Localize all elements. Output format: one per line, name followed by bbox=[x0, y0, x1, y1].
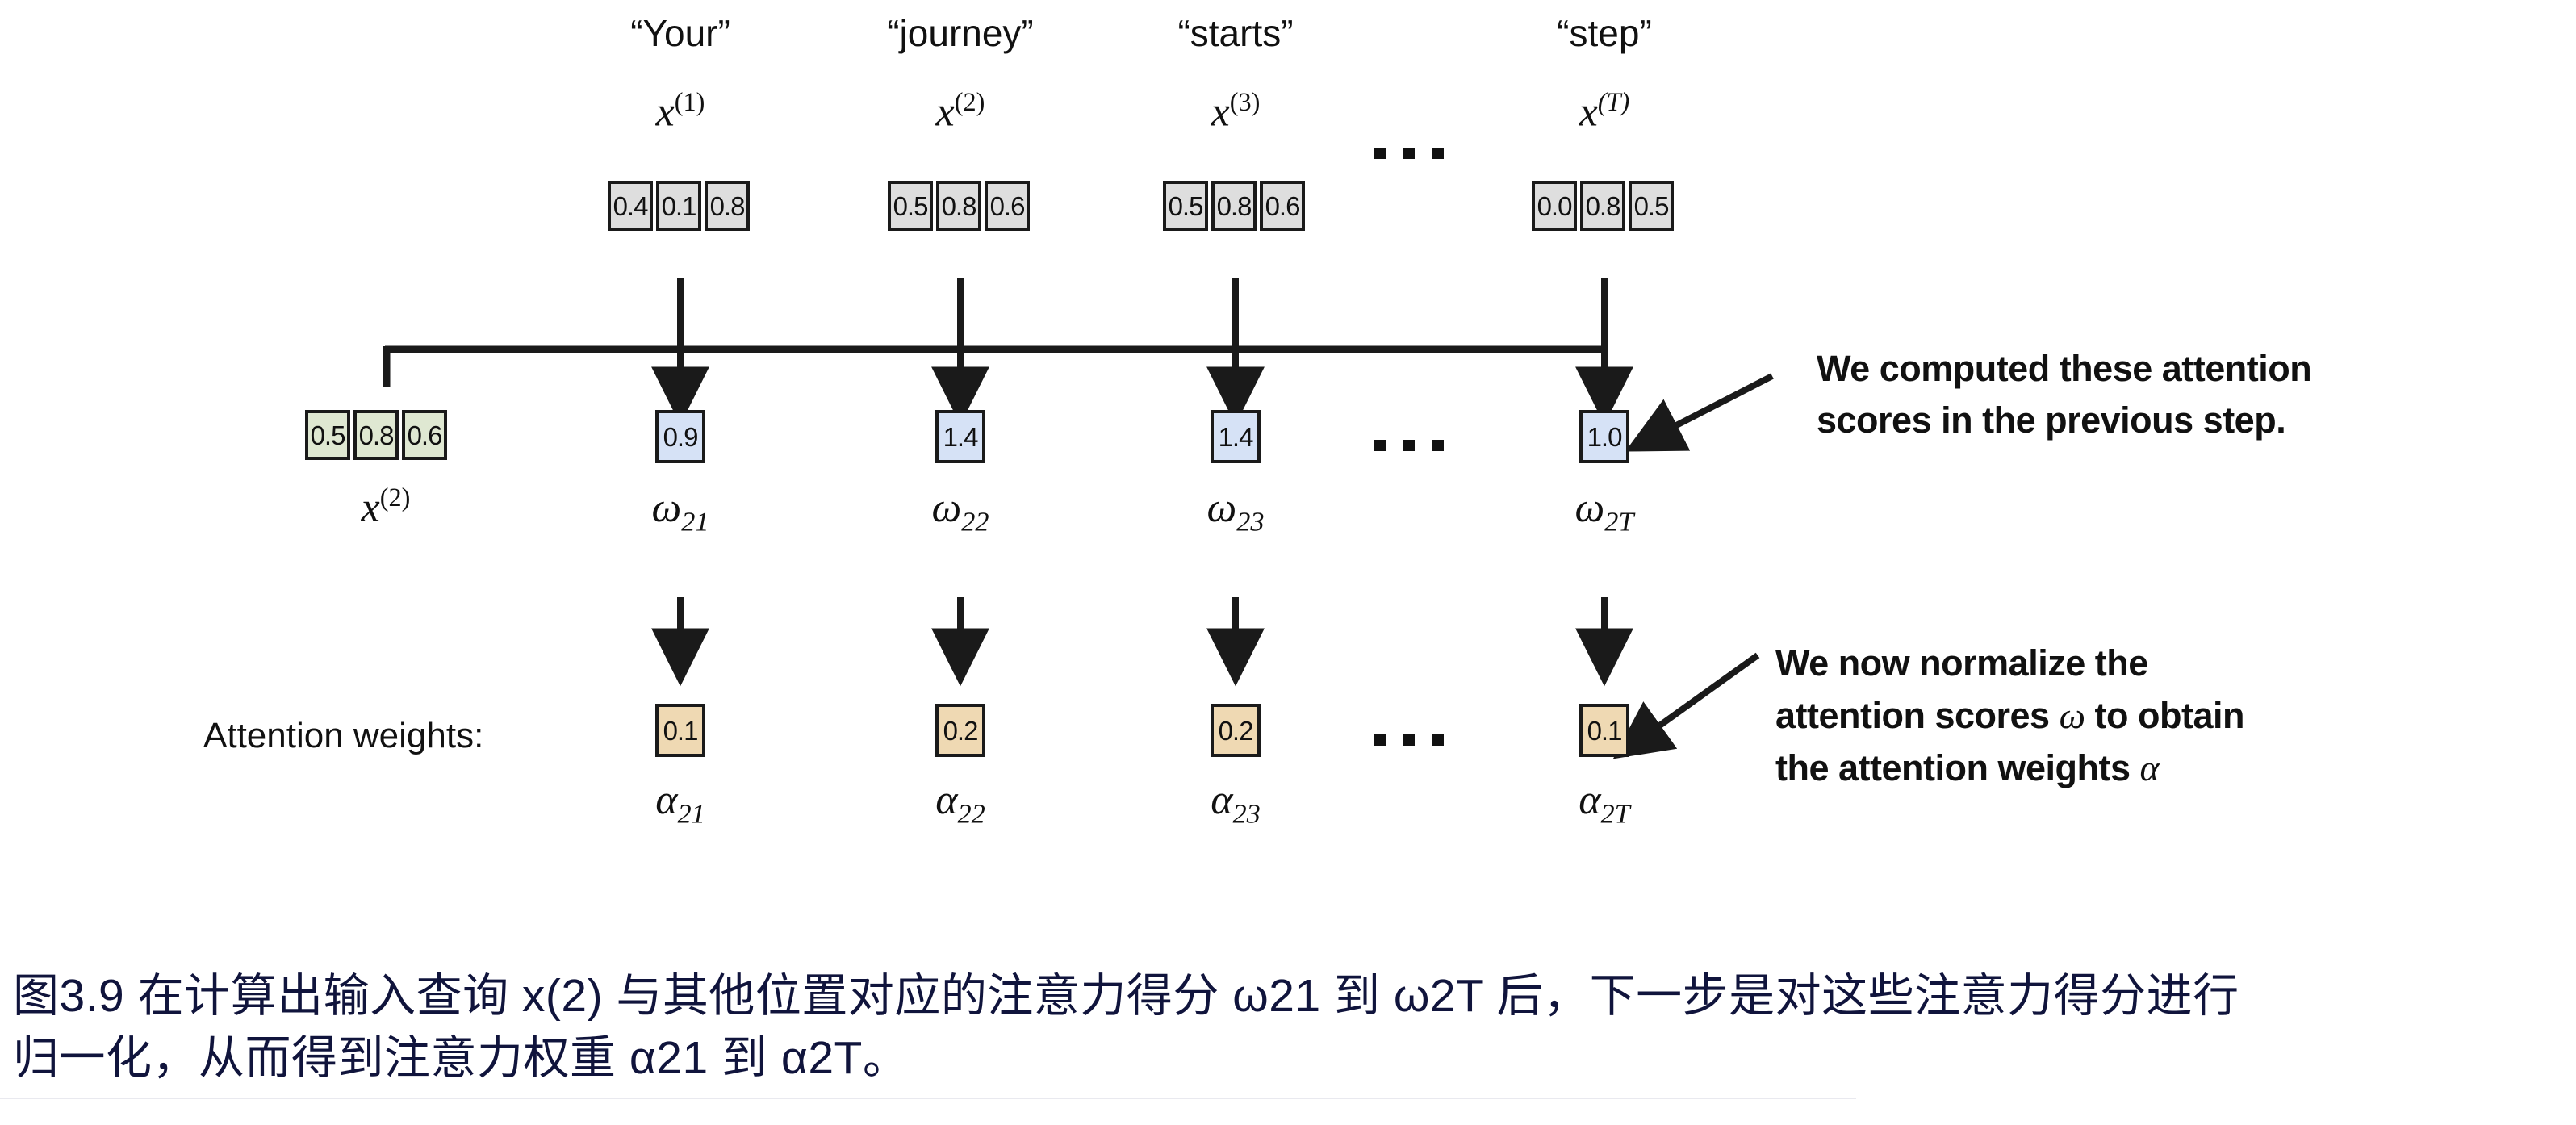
weights-callout-arrow bbox=[1638, 655, 1758, 741]
alpha-subscript: 2T bbox=[1601, 798, 1630, 829]
attention-score-cell-3: 1.4 bbox=[1211, 410, 1261, 463]
score-to-weight-arrows bbox=[680, 597, 1604, 655]
query-cell: 0.8 bbox=[353, 410, 399, 460]
omega-symbol: ω bbox=[931, 485, 961, 531]
attention-weight-label-1: α21 bbox=[616, 780, 745, 828]
ellipsis-dot bbox=[1403, 148, 1415, 159]
query-vector: 0.5 0.8 0.6 bbox=[305, 410, 447, 460]
input-cell: 0.5 bbox=[888, 181, 933, 231]
token-var-4: x(T) bbox=[1524, 89, 1685, 133]
ellipsis-dot bbox=[1374, 148, 1386, 159]
ellipsis-dot bbox=[1432, 148, 1444, 159]
input-vector-4: 0.0 0.8 0.5 bbox=[1532, 181, 1674, 231]
input-cell: 0.4 bbox=[608, 181, 653, 231]
token-var-sup-3: (3) bbox=[1230, 87, 1261, 116]
token-var-sup-1: (1) bbox=[675, 87, 705, 116]
token-word-3: “starts” bbox=[1155, 15, 1316, 52]
omega-symbol: ω bbox=[651, 485, 681, 531]
query-label-sup: (2) bbox=[380, 483, 411, 512]
attention-score-cell-4: 1.0 bbox=[1579, 410, 1629, 463]
attention-score-cell-1: 0.9 bbox=[655, 410, 705, 463]
weights-callout-line3: the attention weights α bbox=[1775, 742, 2244, 794]
omega-subscript: 2T bbox=[1604, 506, 1633, 537]
input-cell: 0.0 bbox=[1532, 181, 1577, 231]
attention-weights-figure: “Your” x(1) 0.4 0.1 0.8 “journey” x(2) 0… bbox=[0, 0, 2576, 1125]
token-var-2: x(2) bbox=[880, 89, 1041, 133]
alpha-symbol: α bbox=[1211, 777, 1232, 823]
ellipsis-dot bbox=[1432, 734, 1444, 746]
footer-divider bbox=[0, 1098, 1856, 1099]
ellipsis-dot bbox=[1432, 440, 1444, 451]
figure-caption-line2: 归一化，从而得到注意力权重 α21 到 α2T。 bbox=[13, 1027, 2571, 1089]
input-vector-1: 0.4 0.1 0.8 bbox=[608, 181, 750, 231]
input-cell: 0.8 bbox=[1580, 181, 1625, 231]
input-cell: 0.6 bbox=[985, 181, 1030, 231]
attention-weight-cell-3: 0.2 bbox=[1211, 704, 1261, 757]
query-label: x(2) bbox=[313, 484, 458, 529]
omega-subscript: 21 bbox=[681, 506, 709, 537]
attention-score-label-1: ω21 bbox=[616, 487, 745, 536]
attention-score-cell-2: 1.4 bbox=[935, 410, 985, 463]
attention-weight-label-2: α22 bbox=[896, 780, 1025, 828]
token-var-sup-2: (2) bbox=[955, 87, 985, 116]
token-var-3: x(3) bbox=[1155, 89, 1316, 133]
input-cell: 0.6 bbox=[1260, 181, 1305, 231]
attention-weight-label-3: α23 bbox=[1171, 780, 1300, 828]
scores-callout-line1: We computed these attention bbox=[1817, 343, 2311, 395]
input-cell: 0.8 bbox=[1211, 181, 1257, 231]
weights-callout-line3-pre: the attention weights bbox=[1775, 747, 2140, 788]
alpha-symbol: α bbox=[1579, 777, 1600, 823]
ellipsis-dot bbox=[1374, 440, 1386, 451]
attention-weight-cell-4: 0.1 bbox=[1579, 704, 1629, 757]
omega-subscript: 23 bbox=[1236, 506, 1264, 537]
query-label-base: x bbox=[362, 484, 380, 530]
weights-callout-line2-pre: attention scores bbox=[1775, 695, 2060, 736]
alpha-symbol: α bbox=[655, 777, 677, 823]
attention-score-label-2: ω22 bbox=[896, 487, 1025, 536]
omega-symbol: ω bbox=[1206, 485, 1236, 531]
input-vector-2: 0.5 0.8 0.6 bbox=[888, 181, 1030, 231]
ellipsis-dot bbox=[1374, 734, 1386, 746]
figure-caption-line1: 图3.9 在计算出输入查询 x(2) 与其他位置对应的注意力得分 ω21 到 ω… bbox=[13, 965, 2571, 1027]
connector-diagram bbox=[0, 0, 2576, 1125]
attention-weights-row-label: Attention weights: bbox=[203, 718, 483, 754]
scores-callout: We computed these attention scores in th… bbox=[1817, 343, 2311, 446]
alpha-subscript: 22 bbox=[957, 798, 985, 829]
bus-to-score-arrows bbox=[680, 349, 1604, 394]
attention-weight-label-4: α2T bbox=[1540, 780, 1669, 828]
input-cell: 0.1 bbox=[656, 181, 701, 231]
omega-symbol: ω bbox=[1575, 485, 1605, 531]
attention-score-label-4: ω2T bbox=[1540, 487, 1669, 536]
token-var-base-1: x bbox=[656, 89, 675, 135]
scores-callout-arrow bbox=[1653, 376, 1772, 437]
token-word-2: “journey” bbox=[855, 15, 1065, 52]
token-var-1: x(1) bbox=[600, 89, 761, 133]
omega-subscript: 22 bbox=[961, 506, 989, 537]
weights-callout-line1: We now normalize the bbox=[1775, 638, 2244, 689]
attention-weight-cell-2: 0.2 bbox=[935, 704, 985, 757]
query-cell: 0.5 bbox=[305, 410, 350, 460]
query-cell: 0.6 bbox=[402, 410, 447, 460]
alpha-symbol-inline: α bbox=[2140, 747, 2160, 788]
input-cell: 0.8 bbox=[705, 181, 750, 231]
weights-callout: We now normalize the attention scores ω … bbox=[1775, 638, 2244, 794]
token-word-1: “Your” bbox=[600, 15, 761, 52]
input-cell: 0.5 bbox=[1163, 181, 1208, 231]
alpha-subscript: 23 bbox=[1232, 798, 1260, 829]
weights-callout-line2-post: to obtain bbox=[2085, 695, 2244, 736]
input-cell: 0.8 bbox=[936, 181, 981, 231]
token-word-4: “step” bbox=[1524, 15, 1685, 52]
attention-weight-cell-1: 0.1 bbox=[655, 704, 705, 757]
input-vector-3: 0.5 0.8 0.6 bbox=[1163, 181, 1305, 231]
ellipsis-dot bbox=[1403, 440, 1415, 451]
token-var-base-2: x bbox=[936, 89, 955, 135]
attention-score-label-3: ω23 bbox=[1171, 487, 1300, 536]
ellipsis-weights bbox=[1374, 734, 1444, 746]
input-cell: 0.5 bbox=[1629, 181, 1674, 231]
token-var-base-3: x bbox=[1211, 89, 1230, 135]
ellipsis-top bbox=[1374, 148, 1444, 159]
ellipsis-scores bbox=[1374, 440, 1444, 451]
scores-callout-line2: scores in the previous step. bbox=[1817, 395, 2311, 446]
omega-symbol-inline: ω bbox=[2060, 695, 2085, 736]
alpha-symbol: α bbox=[935, 777, 957, 823]
ellipsis-dot bbox=[1403, 734, 1415, 746]
input-to-bus-stubs bbox=[680, 278, 1604, 349]
token-var-sup-4: (T) bbox=[1598, 87, 1629, 116]
token-var-base-4: x bbox=[1579, 89, 1598, 135]
figure-caption: 图3.9 在计算出输入查询 x(2) 与其他位置对应的注意力得分 ω21 到 ω… bbox=[13, 965, 2571, 1089]
weights-callout-line2: attention scores ω to obtain bbox=[1775, 689, 2244, 742]
alpha-subscript: 21 bbox=[677, 798, 705, 829]
